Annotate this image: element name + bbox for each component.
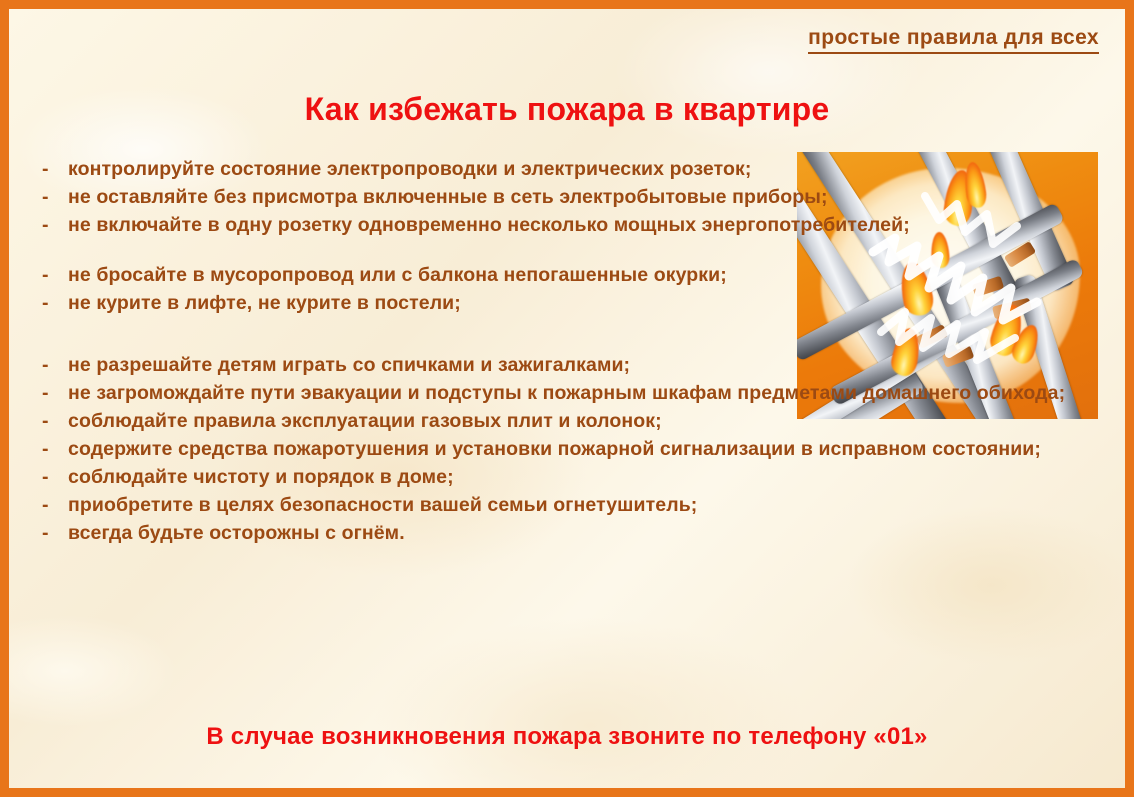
list-item-label: соблюдайте правила эксплуатации газовых … <box>68 407 1102 435</box>
emergency-call-notice: В случае возникновения пожара звоните по… <box>9 723 1125 751</box>
list-item-label: не бросайте в мусоропровод или с балкона… <box>68 261 1102 289</box>
page-title: Как избежать пожара в квартире <box>9 91 1125 128</box>
list-item: - не бросайте в мусоропровод или с балко… <box>42 261 1102 289</box>
rules-group: - не бросайте в мусоропровод или с балко… <box>42 261 1102 317</box>
list-item: - всегда будьте осторожны с огнём. <box>42 519 1102 547</box>
list-item: - содержите средства пожаротушения и уст… <box>42 435 1102 463</box>
fire-safety-poster: простые правила для всех Как избежать по… <box>0 0 1134 797</box>
bullet-marker: - <box>42 211 68 239</box>
rules-group: - контролируйте состояние электропроводк… <box>42 155 1102 239</box>
list-item: - не оставляйте без присмотра включенные… <box>42 183 1102 211</box>
list-item: - контролируйте состояние электропроводк… <box>42 155 1102 183</box>
list-item: - не разрешайте детям играть со спичками… <box>42 351 1102 379</box>
bullet-marker: - <box>42 155 68 183</box>
list-item: - не загромождайте пути эвакуации и подс… <box>42 379 1102 407</box>
list-item-label: не оставляйте без присмотра включенные в… <box>68 183 1102 211</box>
list-item-label: не курите в лифте, не курите в постели; <box>68 289 1102 317</box>
bullet-marker: - <box>42 351 68 379</box>
list-item: - не курите в лифте, не курите в постели… <box>42 289 1102 317</box>
list-item: - не включайте в одну розетку одновремен… <box>42 211 1102 239</box>
bullet-marker: - <box>42 289 68 317</box>
list-item-label: всегда будьте осторожны с огнём. <box>68 519 1102 547</box>
list-item-label: не разрешайте детям играть со спичками и… <box>68 351 1102 379</box>
bullet-marker: - <box>42 463 68 491</box>
bullet-marker: - <box>42 491 68 519</box>
list-item-label: содержите средства пожаротушения и устан… <box>68 435 1102 463</box>
list-item: - соблюдайте чистоту и порядок в доме; <box>42 463 1102 491</box>
list-item-label: контролируйте состояние электропроводки … <box>68 155 1102 183</box>
bullet-marker: - <box>42 407 68 435</box>
bullet-marker: - <box>42 183 68 211</box>
poster-eyebrow: простые правила для всех <box>808 26 1099 54</box>
list-item: - соблюдайте правила эксплуатации газовы… <box>42 407 1102 435</box>
bullet-marker: - <box>42 519 68 547</box>
list-item-label: не загромождайте пути эвакуации и подсту… <box>68 379 1102 407</box>
bullet-marker: - <box>42 261 68 289</box>
list-item: - приобретите в целях безопасности вашей… <box>42 491 1102 519</box>
list-item-label: соблюдайте чистоту и порядок в доме; <box>68 463 1102 491</box>
list-item-label: приобретите в целях безопасности вашей с… <box>68 491 1102 519</box>
bullet-marker: - <box>42 435 68 463</box>
rules-group: - не разрешайте детям играть со спичками… <box>42 351 1102 547</box>
list-item-label: не включайте в одну розетку одновременно… <box>68 211 1102 239</box>
bullet-marker: - <box>42 379 68 407</box>
safety-rules-list: - контролируйте состояние электропроводк… <box>42 155 1102 547</box>
